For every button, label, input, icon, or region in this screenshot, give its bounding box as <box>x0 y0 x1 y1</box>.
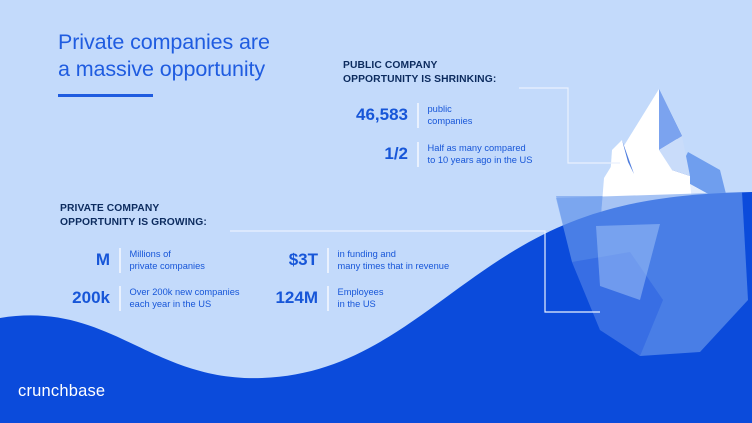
page-title: Private companies are a massive opportun… <box>58 29 358 83</box>
stat-value: 46,583 <box>318 105 417 125</box>
stat-3t-funding: $3T in funding and many times that in re… <box>256 248 449 273</box>
stat-200k-new-companies: 200k Over 200k new companies each year i… <box>62 286 240 311</box>
stat-description: in funding and many times that in revenu… <box>329 248 450 273</box>
crunchbase-logo: crunchbase <box>18 381 105 401</box>
stat-124m-employees: 124M Employees in the US <box>256 286 384 311</box>
stat-value: 1/2 <box>318 144 417 164</box>
private-company-heading: PRIVATE COMPANY OPPORTUNITY IS GROWING: <box>60 202 207 230</box>
stat-value: 124M <box>256 288 327 308</box>
stat-millions-of-private-companies: M Millions of private companies <box>62 248 205 273</box>
stat-half-as-many: 1/2 Half as many compared to 10 years ag… <box>318 142 532 167</box>
stat-description: Millions of private companies <box>121 248 205 273</box>
infographic-slide: Private companies are a massive opportun… <box>0 0 752 423</box>
stat-description: public companies <box>419 103 473 128</box>
stat-description: Over 200k new companies each year in the… <box>121 286 240 311</box>
public-company-heading: PUBLIC COMPANY OPPORTUNITY IS SHRINKING: <box>343 59 496 87</box>
stat-value: 200k <box>62 288 119 308</box>
stat-value: $3T <box>256 250 327 270</box>
title-underline-rule <box>58 94 153 97</box>
stat-public-companies: 46,583 public companies <box>318 103 472 128</box>
stat-value: M <box>62 250 119 270</box>
stat-description: Half as many compared to 10 years ago in… <box>419 142 533 167</box>
stat-description: Employees in the US <box>329 286 384 311</box>
